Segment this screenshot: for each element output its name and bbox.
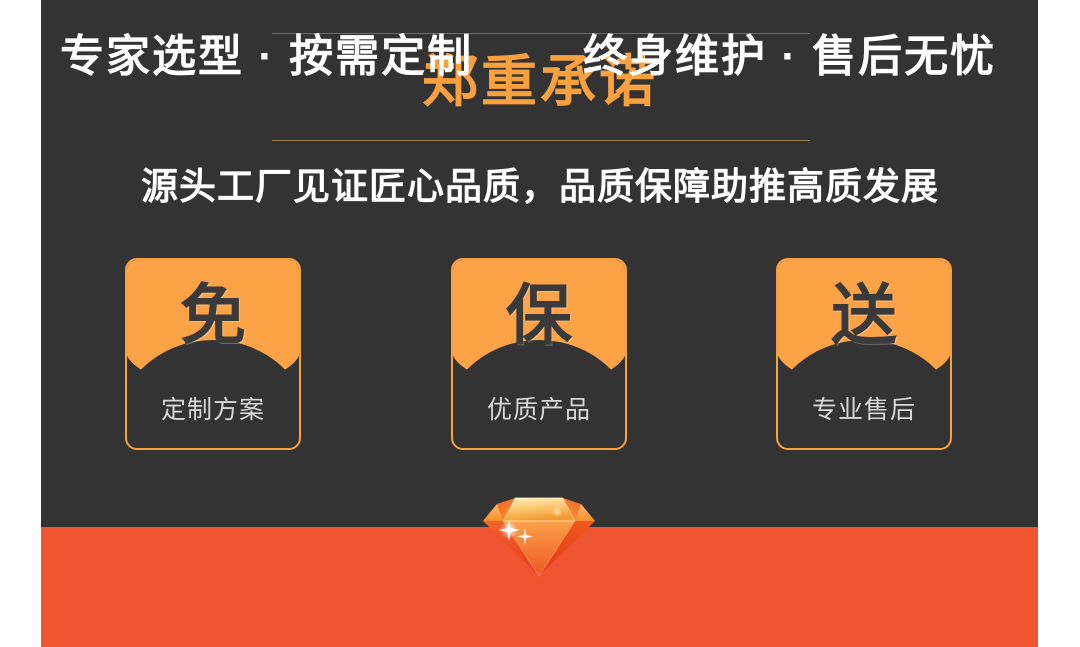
bottom-slogan-right: 终身维护 · 售后无忧 [583, 26, 996, 88]
promise-card-after-sales: 送 专业售后 [776, 258, 952, 450]
card-label: 优质产品 [453, 394, 625, 426]
promise-card-quality-product: 保 优质产品 [451, 258, 627, 450]
card-glyph: 免 [127, 276, 299, 354]
card-label: 定制方案 [127, 394, 299, 426]
page-subtitle: 源头工厂见证匠心品质，品质保障助推高质发展 [0, 162, 1080, 212]
divider-line-bottom [272, 140, 810, 141]
card-glyph: 送 [778, 276, 950, 354]
card-label: 专业售后 [778, 394, 950, 426]
bottom-slogan-left: 专家选型 · 按需定制 [60, 26, 473, 88]
promise-card-custom-solution: 免 定制方案 [125, 258, 301, 450]
promise-banner: 郑重承诺 源头工厂见证匠心品质，品质保障助推高质发展 免 定制方案 保 优质产品… [0, 0, 1080, 647]
card-glyph: 保 [453, 276, 625, 354]
diamond-gem-icon [479, 488, 599, 578]
promise-card-list: 免 定制方案 保 优质产品 送 专业售后 [0, 258, 1080, 454]
